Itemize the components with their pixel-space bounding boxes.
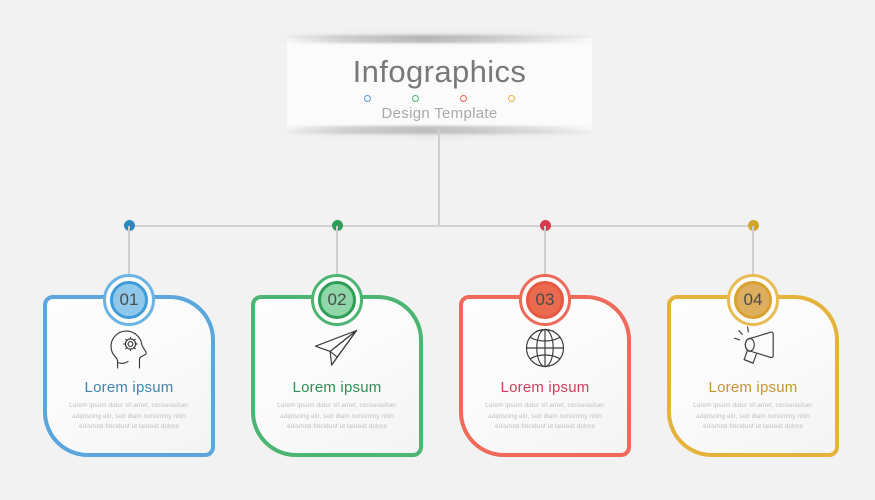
- info-card-heading-04: Lorem ipsum: [709, 379, 798, 396]
- step-badge-02[interactable]: 02: [311, 274, 363, 326]
- info-card-body-01: Lorem ipsum dolor sit amet, consectetuer…: [63, 401, 195, 433]
- brush-stroke-top: [282, 35, 597, 43]
- header-panel: Infographics Design Template: [287, 38, 592, 130]
- head-gear-icon: [106, 325, 152, 371]
- accent-dot-2: [412, 95, 419, 102]
- accent-dot-1: [364, 95, 371, 102]
- info-card-body-04: Lorem ipsum dolor sit amet, consectetuer…: [687, 401, 819, 433]
- info-card-body-02: Lorem ipsum dolor sit amet, consectetuer…: [271, 401, 403, 433]
- paper-plane-icon: [312, 325, 362, 371]
- info-card-heading-01: Lorem ipsum: [85, 379, 174, 396]
- megaphone-icon: [728, 325, 778, 371]
- infographic-canvas: Infographics Design Template Lorem ipsum…: [0, 0, 875, 500]
- info-card-heading-03: Lorem ipsum: [501, 379, 590, 396]
- step-badge-number-01: 01: [110, 281, 148, 319]
- page-subtitle: Design Template: [287, 105, 592, 122]
- step-badge-01[interactable]: 01: [103, 274, 155, 326]
- accent-dot-row: [287, 95, 592, 102]
- connector-stem: [438, 130, 440, 226]
- page-title: Infographics: [287, 54, 592, 90]
- step-badge-number-03: 03: [526, 281, 564, 319]
- step-badge-04[interactable]: 04: [727, 274, 779, 326]
- connector-bus: [125, 225, 750, 227]
- step-badge-03[interactable]: 03: [519, 274, 571, 326]
- globe-icon: [522, 325, 568, 371]
- info-card-heading-02: Lorem ipsum: [293, 379, 382, 396]
- step-badge-number-04: 04: [734, 281, 772, 319]
- info-card-body-03: Lorem ipsum dolor sit amet, consectetuer…: [479, 401, 611, 433]
- accent-dot-4: [508, 95, 515, 102]
- step-badge-number-02: 02: [318, 281, 356, 319]
- accent-dot-3: [460, 95, 467, 102]
